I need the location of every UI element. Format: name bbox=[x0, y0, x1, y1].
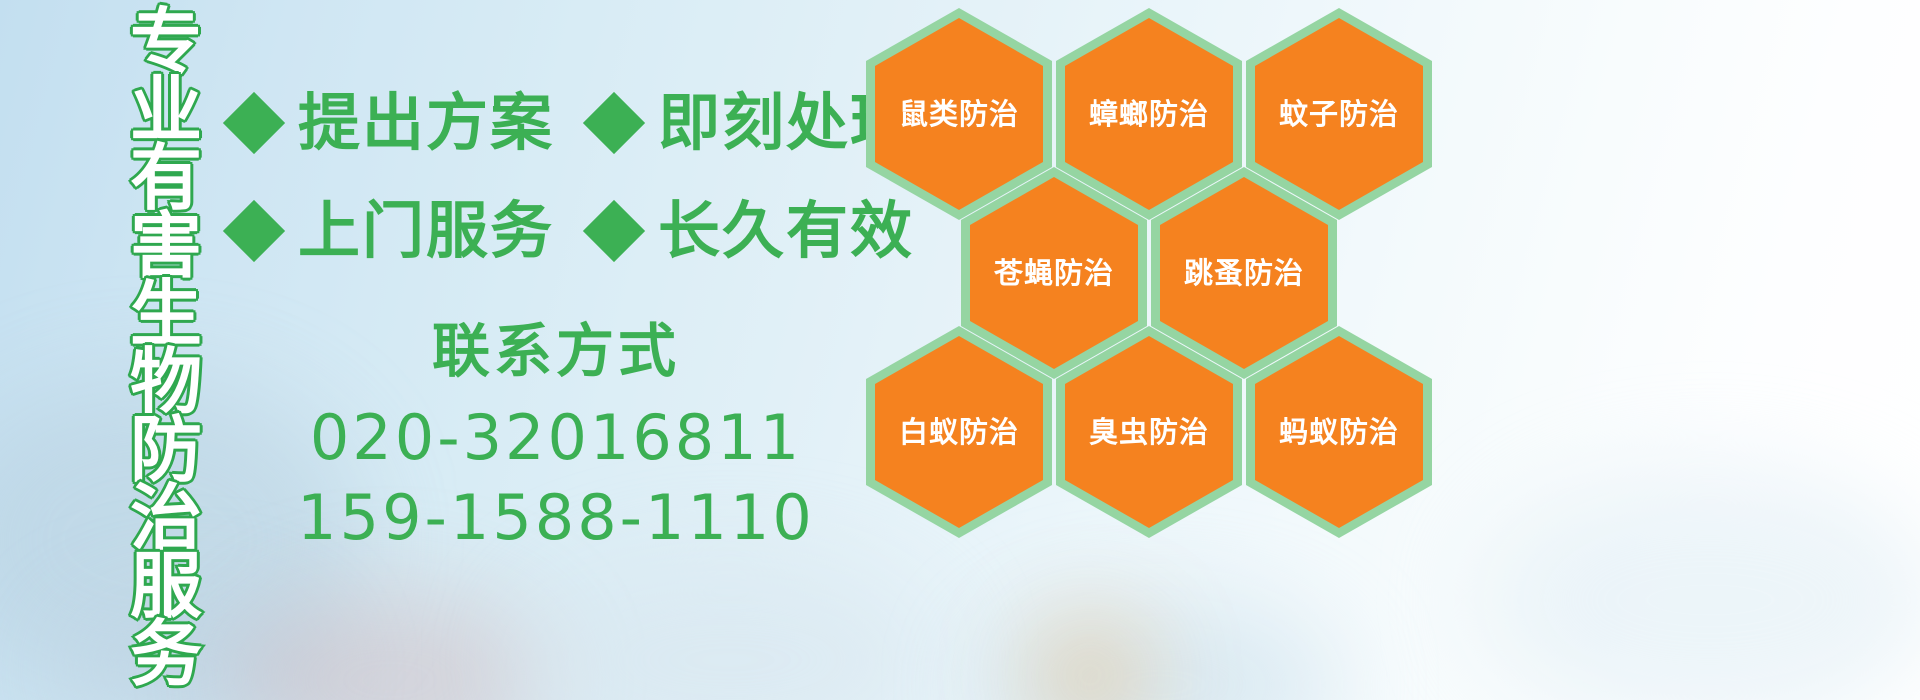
contact-phone-mobile[interactable]: 159-1588-1110 bbox=[236, 478, 876, 558]
vertical-headline-char: 害 bbox=[118, 212, 214, 280]
hexagon-face: 白蚁防治 bbox=[875, 336, 1043, 528]
vertical-headline-char: 服 bbox=[118, 552, 214, 620]
service-label: 臭虫防治 bbox=[1089, 416, 1209, 448]
hexagon-face: 鼠类防治 bbox=[875, 18, 1043, 210]
vertical-headline-char: 业 bbox=[118, 76, 214, 144]
contact-heading: 联系方式 bbox=[236, 316, 876, 386]
vertical-headline-char: 专 bbox=[118, 8, 214, 76]
feature-item: 提出方案 bbox=[232, 92, 554, 154]
diamond-bullet-icon bbox=[223, 200, 285, 262]
hexagon-face: 苍蝇防治 bbox=[970, 177, 1138, 369]
hexagon-face: 蚂蚁防治 bbox=[1255, 336, 1423, 528]
vertical-headline-char: 治 bbox=[118, 484, 214, 552]
service-label: 蚂蚁防治 bbox=[1279, 416, 1399, 448]
vertical-headline-char: 务 bbox=[118, 620, 214, 688]
vertical-headline: 专 业 有 害 生 物 防 治 服 务 bbox=[118, 8, 214, 688]
vertical-headline-char: 物 bbox=[118, 348, 214, 416]
feature-label: 提出方案 bbox=[298, 92, 554, 154]
vertical-headline-char: 防 bbox=[118, 416, 214, 484]
service-label: 白蚁防治 bbox=[899, 416, 1019, 448]
service-label: 蚊子防治 bbox=[1279, 98, 1399, 130]
service-label: 鼠类防治 bbox=[899, 98, 1019, 130]
diamond-bullet-icon bbox=[583, 92, 645, 154]
contact-phone-landline[interactable]: 020-32016811 bbox=[236, 398, 876, 478]
diamond-bullet-icon bbox=[223, 92, 285, 154]
vertical-headline-char: 生 bbox=[118, 280, 214, 348]
hexagon-face: 蟑螂防治 bbox=[1065, 18, 1233, 210]
service-label: 蟑螂防治 bbox=[1089, 98, 1209, 130]
pest-control-banner: 专 业 有 害 生 物 防 治 服 务 提出方案 即刻处理 上门服务 长久有效 bbox=[0, 0, 1920, 700]
background-blob bbox=[230, 590, 550, 700]
hexagon-face: 跳蚤防治 bbox=[1160, 177, 1328, 369]
service-label: 跳蚤防治 bbox=[1184, 257, 1304, 289]
service-label: 苍蝇防治 bbox=[994, 257, 1114, 289]
service-honeycomb: 鼠类防治 蟑螂防治 蚊子防治 苍蝇防治 跳蚤防治 白蚁防治 bbox=[862, 0, 1462, 700]
vertical-headline-char: 有 bbox=[118, 144, 214, 212]
hexagon-face: 蚊子防治 bbox=[1255, 18, 1423, 210]
contact-block: 联系方式 020-32016811 159-1588-1110 bbox=[236, 316, 876, 558]
background-blob bbox=[1480, 470, 1920, 700]
feature-item: 上门服务 bbox=[232, 200, 554, 262]
feature-label: 上门服务 bbox=[298, 200, 554, 262]
feature-row: 提出方案 即刻处理 bbox=[232, 92, 914, 154]
feature-row: 上门服务 长久有效 bbox=[232, 200, 914, 262]
diamond-bullet-icon bbox=[583, 200, 645, 262]
hexagon-face: 臭虫防治 bbox=[1065, 336, 1233, 528]
